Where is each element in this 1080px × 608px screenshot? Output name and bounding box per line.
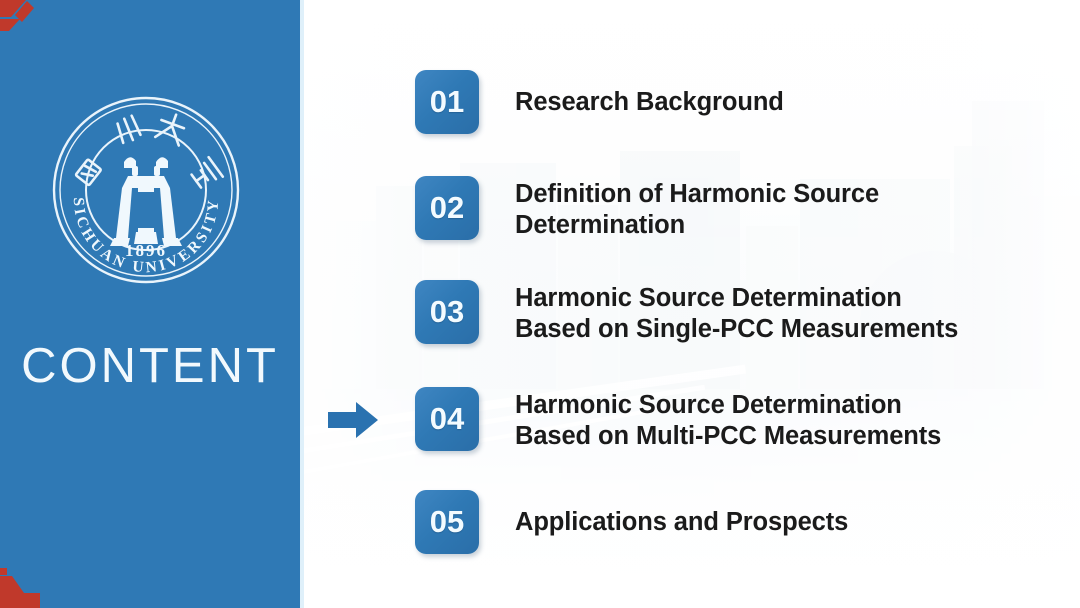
agenda-item-label: Harmonic Source Determination Based on M… bbox=[515, 387, 941, 452]
content-slide: 1896 SICHUAN UNIVERSITY CONTENT 01 Resea… bbox=[0, 0, 1080, 608]
agenda-item-label: Applications and Prospects bbox=[515, 490, 848, 538]
agenda-number-badge: 02 bbox=[415, 176, 479, 240]
agenda-item-04[interactable]: 04 Harmonic Source Determination Based o… bbox=[415, 387, 941, 452]
agenda-item-01[interactable]: 01 Research Background bbox=[415, 70, 784, 134]
agenda-number-badge: 01 bbox=[415, 70, 479, 134]
agenda-list: 01 Research Background 02 Definition of … bbox=[0, 0, 1080, 608]
agenda-item-05[interactable]: 05 Applications and Prospects bbox=[415, 490, 848, 554]
agenda-item-label: Definition of Harmonic Source Determinat… bbox=[515, 176, 879, 241]
agenda-number-badge: 03 bbox=[415, 280, 479, 344]
agenda-item-label: Research Background bbox=[515, 70, 784, 118]
agenda-item-label: Harmonic Source Determination Based on S… bbox=[515, 280, 958, 345]
agenda-item-02[interactable]: 02 Definition of Harmonic Source Determi… bbox=[415, 176, 879, 241]
agenda-item-03[interactable]: 03 Harmonic Source Determination Based o… bbox=[415, 280, 958, 345]
agenda-number-badge: 05 bbox=[415, 490, 479, 554]
agenda-number-badge: 04 bbox=[415, 387, 479, 451]
